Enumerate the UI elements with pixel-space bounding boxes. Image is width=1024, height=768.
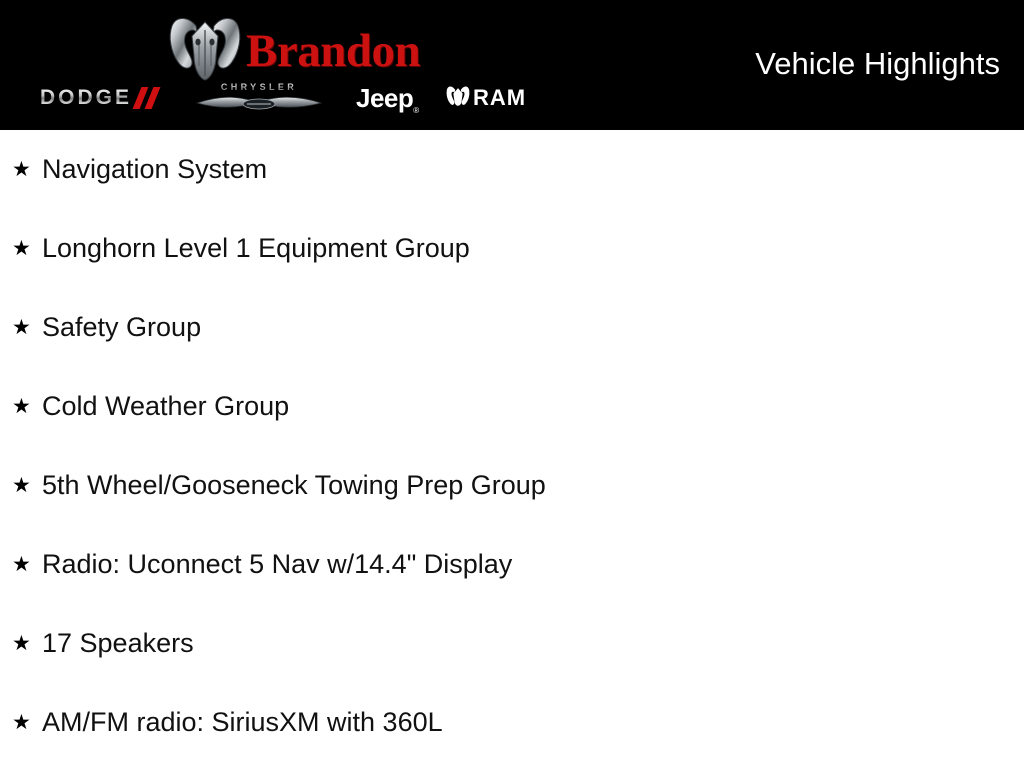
star-bullet-icon: ★ bbox=[10, 159, 42, 180]
page-header: Brandon DODGE CHRYSLER bbox=[0, 0, 1024, 130]
list-item: ★ Safety Group bbox=[0, 288, 1024, 367]
star-bullet-icon: ★ bbox=[10, 554, 42, 575]
ram-logo: RAM bbox=[445, 84, 526, 112]
dodge-wordmark: DODGE bbox=[40, 86, 132, 110]
star-bullet-icon: ★ bbox=[10, 238, 42, 259]
list-item: ★ AM/FM radio: SiriusXM with 360L bbox=[0, 683, 1024, 762]
list-item-label: Safety Group bbox=[42, 313, 201, 343]
star-bullet-icon: ★ bbox=[10, 317, 42, 338]
vehicle-highlights-list: ★ Navigation System ★ Longhorn Level 1 E… bbox=[0, 130, 1024, 762]
star-bullet-icon: ★ bbox=[10, 475, 42, 496]
list-item-label: Cold Weather Group bbox=[42, 392, 289, 422]
list-item-label: 17 Speakers bbox=[42, 629, 194, 659]
list-item-label: Longhorn Level 1 Equipment Group bbox=[42, 234, 470, 264]
list-item-label: Navigation System bbox=[42, 155, 267, 185]
list-item: ★ Cold Weather Group bbox=[0, 367, 1024, 446]
list-item-label: 5th Wheel/Gooseneck Towing Prep Group bbox=[42, 471, 546, 501]
dodge-logo: DODGE bbox=[40, 86, 163, 110]
chrysler-wordmark: CHRYSLER bbox=[206, 82, 312, 92]
star-bullet-icon: ★ bbox=[10, 633, 42, 654]
list-item: ★ Radio: Uconnect 5 Nav w/14.4" Display bbox=[0, 525, 1024, 604]
ram-head-emblem-icon bbox=[166, 10, 244, 84]
ram-head-small-icon bbox=[445, 84, 471, 112]
star-bullet-icon: ★ bbox=[10, 712, 42, 733]
brand-strip: DODGE CHRYSLER bbox=[34, 80, 534, 122]
star-bullet-icon: ★ bbox=[10, 396, 42, 417]
jeep-wordmark: Jeep bbox=[356, 83, 413, 113]
jeep-trademark-icon: ® bbox=[413, 106, 418, 115]
dodge-slashes-icon bbox=[133, 87, 163, 109]
list-item: ★ Navigation System bbox=[0, 130, 1024, 209]
list-item-label: Radio: Uconnect 5 Nav w/14.4" Display bbox=[42, 550, 512, 580]
list-item: ★ 5th Wheel/Gooseneck Towing Prep Group bbox=[0, 446, 1024, 525]
ram-wordmark: RAM bbox=[473, 85, 526, 111]
dealer-name-text: Brandon bbox=[246, 28, 420, 75]
list-item-label: AM/FM radio: SiriusXM with 360L bbox=[42, 708, 443, 738]
page-title: Vehicle Highlights bbox=[755, 48, 1000, 79]
jeep-logo: Jeep® bbox=[356, 83, 419, 115]
list-item: ★ Longhorn Level 1 Equipment Group bbox=[0, 209, 1024, 288]
chrysler-logo: CHRYSLER bbox=[194, 80, 324, 118]
dealer-logo: Brandon DODGE CHRYSLER bbox=[34, 6, 534, 124]
list-item: ★ 17 Speakers bbox=[0, 604, 1024, 683]
